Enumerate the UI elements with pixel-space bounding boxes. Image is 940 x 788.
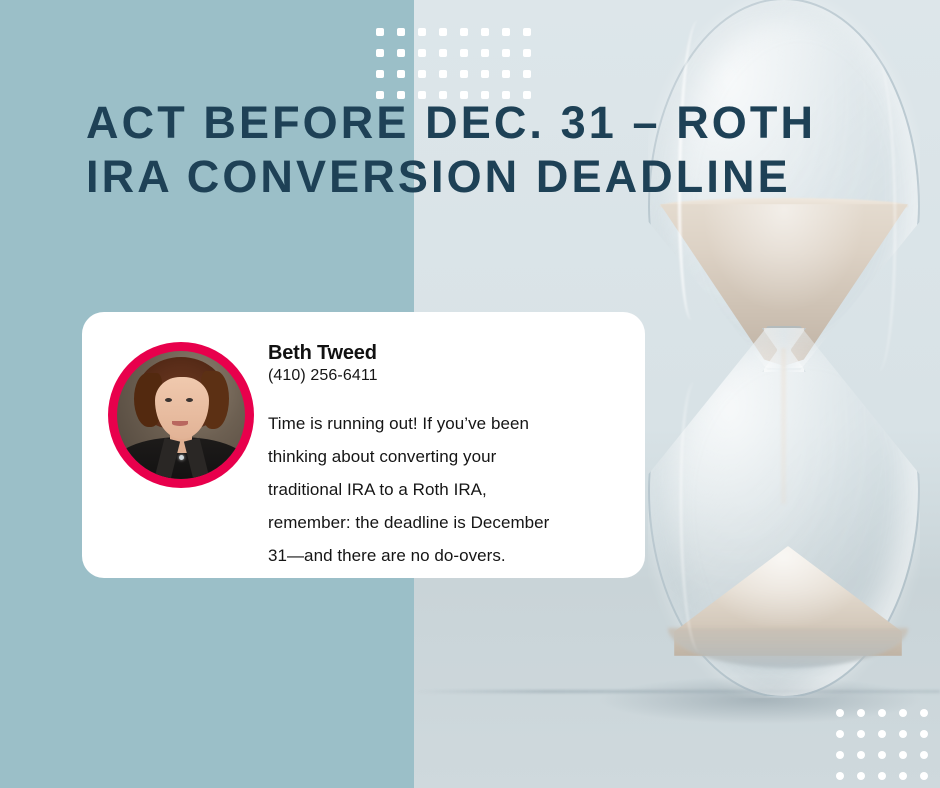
- bottom-dot-grid: [836, 709, 940, 787]
- decorative-dot: [878, 709, 886, 717]
- contact-name: Beth Tweed: [268, 342, 620, 365]
- decorative-dot: [376, 70, 384, 78]
- decorative-dot: [899, 730, 907, 738]
- contact-card: Beth Tweed (410) 256-6411 Time is runnin…: [82, 312, 645, 578]
- avatar-eye-right: [186, 398, 193, 402]
- glass-highlight-lower-left: [680, 382, 716, 652]
- decorative-dot: [502, 70, 510, 78]
- avatar-mouth: [172, 421, 188, 426]
- decorative-dot: [460, 70, 468, 78]
- decorative-dot: [857, 709, 865, 717]
- decorative-dot: [418, 49, 426, 57]
- decorative-dot: [439, 70, 447, 78]
- avatar-photo: [117, 351, 245, 479]
- decorative-dot: [439, 28, 447, 36]
- decorative-dot: [920, 709, 928, 717]
- decorative-dot: [878, 730, 886, 738]
- decorative-dot: [460, 28, 468, 36]
- decorative-dot: [857, 772, 865, 780]
- decorative-dot: [920, 730, 928, 738]
- avatar-eye-left: [165, 398, 172, 402]
- decorative-dot: [836, 751, 844, 759]
- decorative-dot: [878, 772, 886, 780]
- contact-message: Time is running out! If you’ve been thin…: [268, 407, 620, 572]
- decorative-dot: [460, 49, 468, 57]
- decorative-dot: [523, 28, 531, 36]
- decorative-dot: [502, 49, 510, 57]
- decorative-dot: [418, 28, 426, 36]
- decorative-dot: [376, 28, 384, 36]
- decorative-dot: [899, 772, 907, 780]
- decorative-dot: [836, 772, 844, 780]
- decorative-dot: [920, 751, 928, 759]
- decorative-dot: [439, 49, 447, 57]
- decorative-dot: [523, 49, 531, 57]
- decorative-dot: [397, 49, 405, 57]
- decorative-dot: [899, 751, 907, 759]
- decorative-dot: [899, 709, 907, 717]
- decorative-dot: [857, 730, 865, 738]
- decorative-dot: [502, 28, 510, 36]
- decorative-dot: [836, 730, 844, 738]
- decorative-dot: [836, 709, 844, 717]
- avatar-necklace: [179, 455, 184, 460]
- avatar-face: [155, 377, 209, 439]
- decorative-dot: [481, 70, 489, 78]
- decorative-dot: [481, 28, 489, 36]
- decorative-dot: [920, 772, 928, 780]
- decorative-dot: [878, 751, 886, 759]
- avatar: [108, 342, 254, 488]
- page-title: Act Before Dec. 31 – Roth IRA Conversion…: [86, 96, 876, 204]
- decorative-dot: [376, 49, 384, 57]
- decorative-dot: [523, 70, 531, 78]
- contact-phone[interactable]: (410) 256-6411: [268, 367, 620, 385]
- social-media-poster: Act Before Dec. 31 – Roth IRA Conversion…: [0, 0, 940, 788]
- decorative-dot: [397, 28, 405, 36]
- decorative-dot: [857, 751, 865, 759]
- top-dot-grid: [376, 28, 544, 106]
- decorative-dot: [397, 70, 405, 78]
- decorative-dot: [481, 49, 489, 57]
- decorative-dot: [418, 70, 426, 78]
- contact-card-body: Beth Tweed (410) 256-6411 Time is runnin…: [268, 342, 620, 572]
